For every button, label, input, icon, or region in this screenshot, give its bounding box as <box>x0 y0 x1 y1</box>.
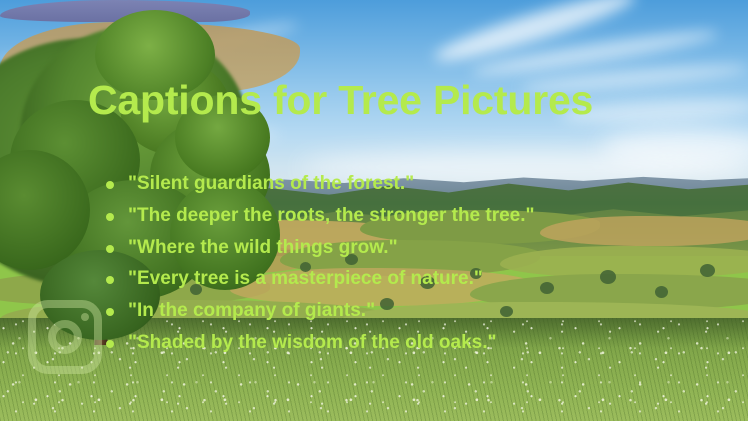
bullet-icon <box>106 181 114 189</box>
instagram-dot <box>81 313 89 321</box>
slide-canvas: Captions for Tree Pictures "Silent guard… <box>0 0 748 421</box>
list-item: "In the company of giants." <box>100 299 535 323</box>
tree-cluster <box>600 270 616 284</box>
instagram-lens <box>48 320 82 354</box>
caption-text: "Every tree is a masterpiece of nature." <box>128 268 483 289</box>
bullet-icon <box>106 213 114 221</box>
caption-text: "Shaded by the wisdom of the old oaks." <box>128 332 497 353</box>
bullet-icon <box>106 276 114 284</box>
tree-cluster <box>655 286 668 298</box>
caption-text: "In the company of giants." <box>128 300 375 321</box>
caption-text: "The deeper the roots, the stronger the … <box>128 205 535 226</box>
list-item: "Where the wild things grow." <box>100 236 535 260</box>
bullet-icon <box>106 340 114 348</box>
caption-list: "Silent guardians of the forest." "The d… <box>100 172 535 363</box>
caption-text: "Silent guardians of the forest." <box>128 173 414 194</box>
bullet-icon <box>106 245 114 253</box>
bullet-icon <box>106 308 114 316</box>
tree-cluster <box>540 282 554 294</box>
instagram-icon <box>28 300 102 374</box>
caption-text: "Where the wild things grow." <box>128 237 398 258</box>
list-item: "Shaded by the wisdom of the old oaks." <box>100 331 535 355</box>
list-item: "Silent guardians of the forest." <box>100 172 535 196</box>
tree-cluster <box>700 264 715 277</box>
list-item: "The deeper the roots, the stronger the … <box>100 204 535 228</box>
page-title: Captions for Tree Pictures <box>88 78 688 124</box>
list-item: "Every tree is a masterpiece of nature." <box>100 267 535 291</box>
field-patch <box>540 216 748 246</box>
